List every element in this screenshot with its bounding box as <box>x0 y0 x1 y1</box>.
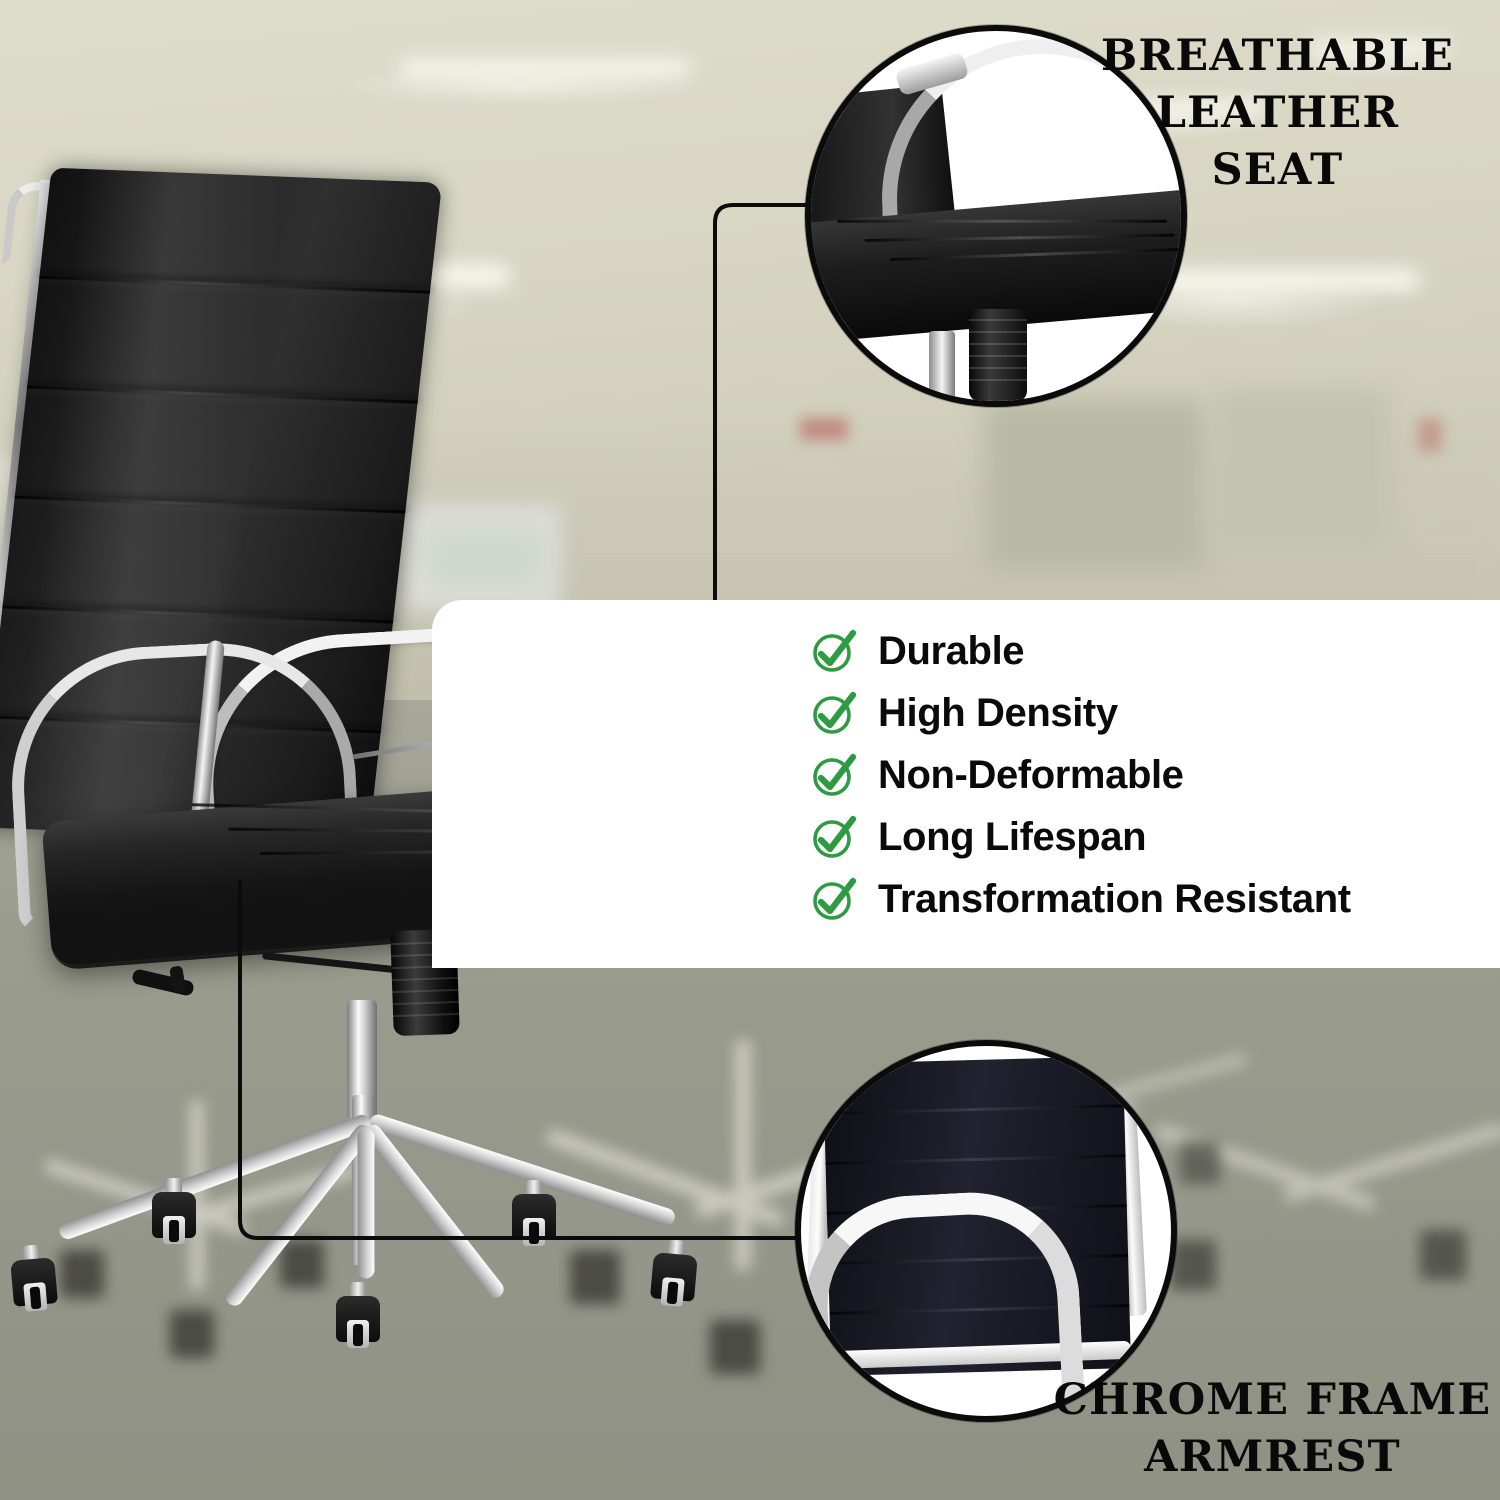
exit-sign <box>800 418 848 440</box>
exit-sign <box>1418 418 1442 452</box>
product-feature-graphic: Durable High Density Non-Deformable <box>0 0 1500 1500</box>
heading-line: CHROME FRAME <box>1045 1372 1500 1429</box>
closeup-cylinder-cover <box>969 309 1027 401</box>
heading-line: LEATHER <box>1055 85 1500 142</box>
feature-label: Transformation Resistant <box>878 879 1351 919</box>
check-circle-icon <box>810 875 858 923</box>
caster-wheel <box>9 1243 59 1319</box>
feature-label: Long Lifespan <box>878 817 1146 857</box>
list-item: Non-Deformable <box>810 744 1500 806</box>
heading-line: ARMREST <box>1045 1429 1500 1486</box>
feature-label: Durable <box>878 631 1024 671</box>
callout-heading-top: BREATHABLE LEATHER SEAT <box>1055 28 1500 198</box>
check-circle-icon <box>810 751 858 799</box>
caster-wheel <box>336 1282 380 1354</box>
list-item: High Density <box>810 682 1500 744</box>
base-star-arm <box>358 1129 375 1279</box>
callout-heading-bottom: CHROME FRAME ARMREST <box>1045 1372 1500 1486</box>
heading-line: SEAT <box>1055 142 1500 199</box>
caster-wheel <box>152 1178 196 1250</box>
check-circle-icon <box>810 689 858 737</box>
caster-wheel <box>649 1238 699 1314</box>
heading-line: BREATHABLE <box>1055 28 1500 85</box>
feature-label: Non-Deformable <box>878 755 1184 795</box>
window-panel <box>1215 390 1390 550</box>
feature-panel: Durable High Density Non-Deformable <box>432 600 1500 968</box>
list-item: Long Lifespan <box>810 806 1500 868</box>
tilt-lever <box>131 968 195 997</box>
feature-list: Durable High Density Non-Deformable <box>810 620 1500 930</box>
check-circle-icon <box>810 627 858 675</box>
tilt-tension-arm <box>262 952 412 975</box>
callout-circle-armrest <box>795 1040 1177 1422</box>
feature-label: High Density <box>878 693 1118 733</box>
caster-wheel <box>512 1180 556 1252</box>
window-panel <box>985 400 1205 570</box>
list-item: Transformation Resistant <box>810 868 1500 930</box>
list-item: Durable <box>810 620 1500 682</box>
armrest-closeup-image <box>801 1046 1171 1416</box>
closeup-gas-cylinder <box>929 331 955 403</box>
check-circle-icon <box>810 813 858 861</box>
